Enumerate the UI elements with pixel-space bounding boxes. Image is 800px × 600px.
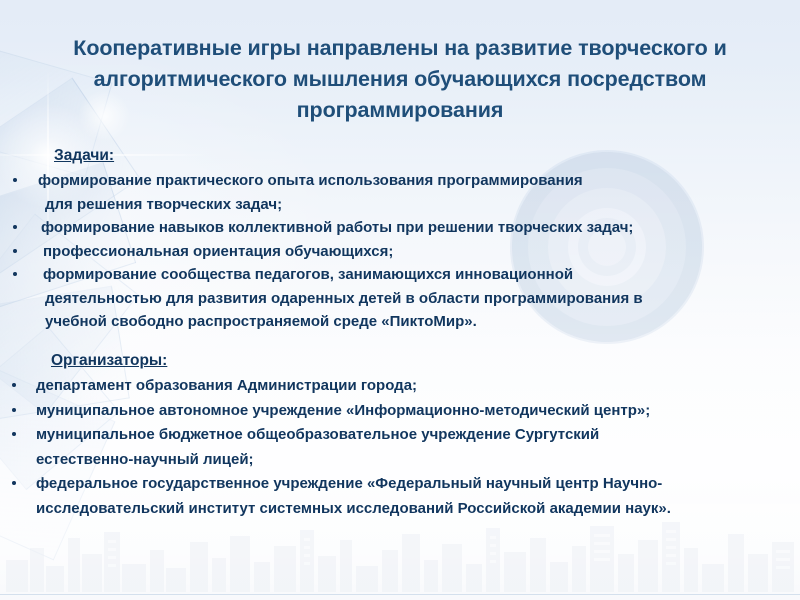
- tasks-list: формирование практического опыта использ…: [0, 169, 800, 334]
- list-item: муниципальное автономное учреждение «Инф…: [0, 399, 800, 424]
- tasks-heading: Задачи:: [54, 147, 114, 165]
- list-item-line: департамент образования Администрации го…: [36, 374, 774, 399]
- list-item: формирование сообщества педагогов, заним…: [0, 263, 800, 334]
- organizers-list: департамент образования Администрации го…: [0, 374, 800, 521]
- organizers-section: Организаторы: департамент образования Ад…: [0, 352, 800, 521]
- bullet-icon: [13, 272, 17, 276]
- slide-content: Кооперативные игры направлены на развити…: [0, 0, 800, 600]
- slide-title: Кооперативные игры направлены на развити…: [38, 33, 762, 126]
- tasks-section: Задачи: формирование практического опыта…: [0, 147, 800, 334]
- list-item-line: муниципальное автономное учреждение «Инф…: [36, 399, 774, 424]
- list-item-line: профессиональная ориентация обучающихся;: [38, 240, 774, 264]
- list-item: муниципальное бюджетное общеобразователь…: [0, 423, 800, 472]
- presentation-slide: Кооперативные игры направлены на развити…: [0, 0, 800, 600]
- list-item-line: естественно-научный лицей;: [36, 448, 774, 473]
- list-item-line: формирование сообщества педагогов, заним…: [38, 263, 774, 287]
- list-item: формирование практического опыта использ…: [0, 169, 800, 216]
- list-item-line: формирование навыков коллективной работы…: [38, 216, 774, 240]
- list-item-line: учебной свободно распространяемой среде …: [38, 310, 774, 334]
- bullet-icon: [12, 481, 16, 485]
- list-item-line: муниципальное бюджетное общеобразователь…: [36, 423, 774, 448]
- list-item-line: для решения творческих задач;: [38, 193, 774, 217]
- organizers-heading: Организаторы:: [51, 352, 167, 370]
- list-item: федеральное государственное учреждение «…: [0, 472, 800, 521]
- list-item: департамент образования Администрации го…: [0, 374, 800, 399]
- list-item-line: формирование практического опыта использ…: [38, 169, 774, 193]
- bullet-icon: [12, 408, 16, 412]
- bullet-icon: [12, 383, 16, 387]
- list-item: формирование навыков коллективной работы…: [0, 216, 800, 240]
- bullet-icon: [12, 432, 16, 436]
- list-item-line: исследовательский институт системных исс…: [36, 497, 774, 522]
- bullet-icon: [13, 178, 17, 182]
- bullet-icon: [13, 225, 17, 229]
- list-item: профессиональная ориентация обучающихся;: [0, 240, 800, 264]
- list-item-line: федеральное государственное учреждение «…: [36, 472, 774, 497]
- list-item-line: деятельностью для развития одаренных дет…: [38, 287, 774, 311]
- bullet-icon: [13, 249, 17, 253]
